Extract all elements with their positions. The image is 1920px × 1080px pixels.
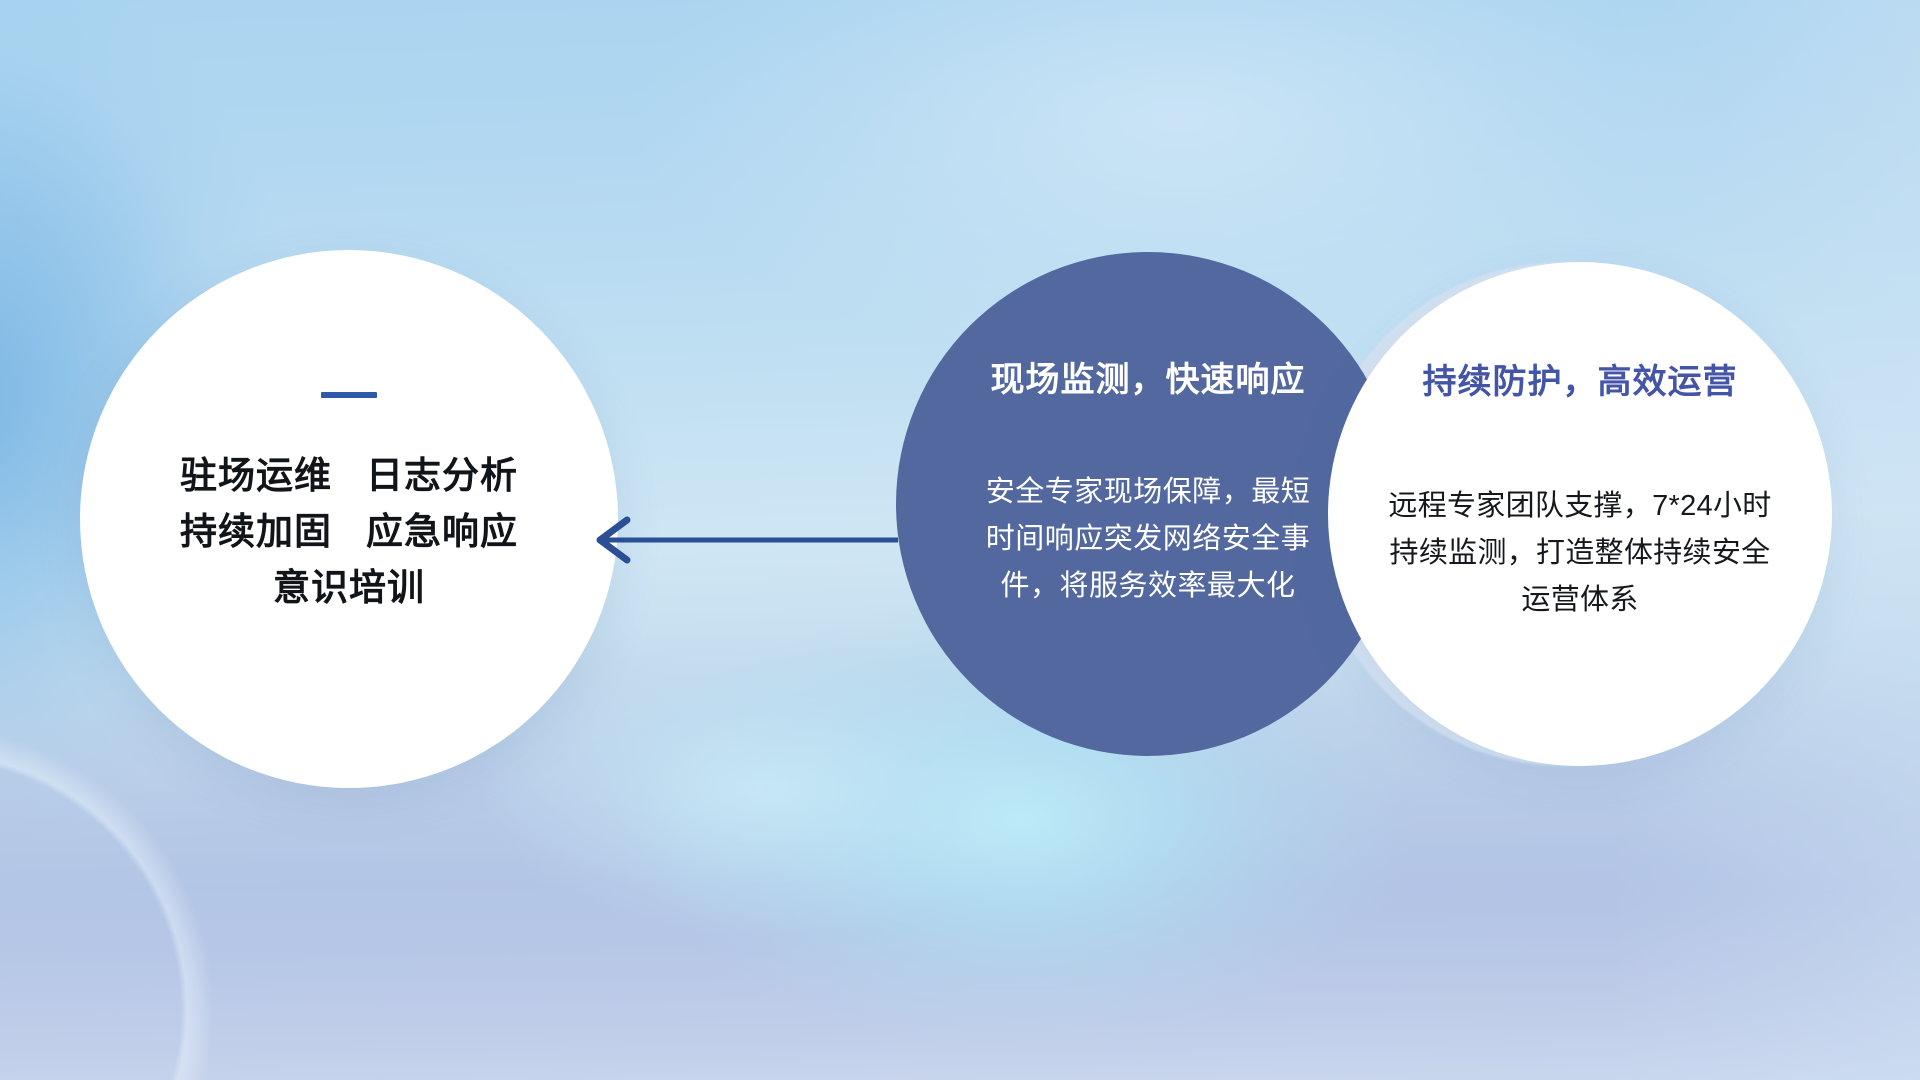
left-card-term: 日志分析 [366,455,518,496]
right-card-content: 持续防护，高效运营 远程专家团队支撑，7*24小时持续监测，打造整体持续安全运营… [1328,262,1832,766]
right-card-title: 持续防护，高效运营 [1423,354,1738,403]
horizontal-dash-icon [321,392,377,398]
left-card-row: 持续加固应急响应 [180,504,518,560]
left-card-row-last: 意识培训 [273,560,425,616]
middle-card-title: 现场监测，快速响应 [991,352,1306,401]
left-card-term: 应急响应 [366,511,518,552]
left-card-row: 驻场运维日志分析 [180,448,518,504]
right-card-body: 远程专家团队支撑，7*24小时持续监测，打造整体持续安全运营体系 [1384,483,1776,624]
left-card-term: 驻场运维 [180,455,332,496]
middle-card-body: 安全专家现场保障，最短时间响应突发网络安全事件，将服务效率最大化 [983,469,1313,610]
left-card-content: 驻场运维日志分析 持续加固应急响应 意识培训 [80,250,618,788]
left-card-term: 持续加固 [180,511,332,552]
slide-canvas: 驻场运维日志分析 持续加固应急响应 意识培训 现场监测，快速响应 安全专家现场保… [0,0,1920,1080]
middle-card-content: 现场监测，快速响应 安全专家现场保障，最短时间响应突发网络安全事件，将服务效率最… [896,252,1400,756]
arrow-left-icon [580,505,900,575]
